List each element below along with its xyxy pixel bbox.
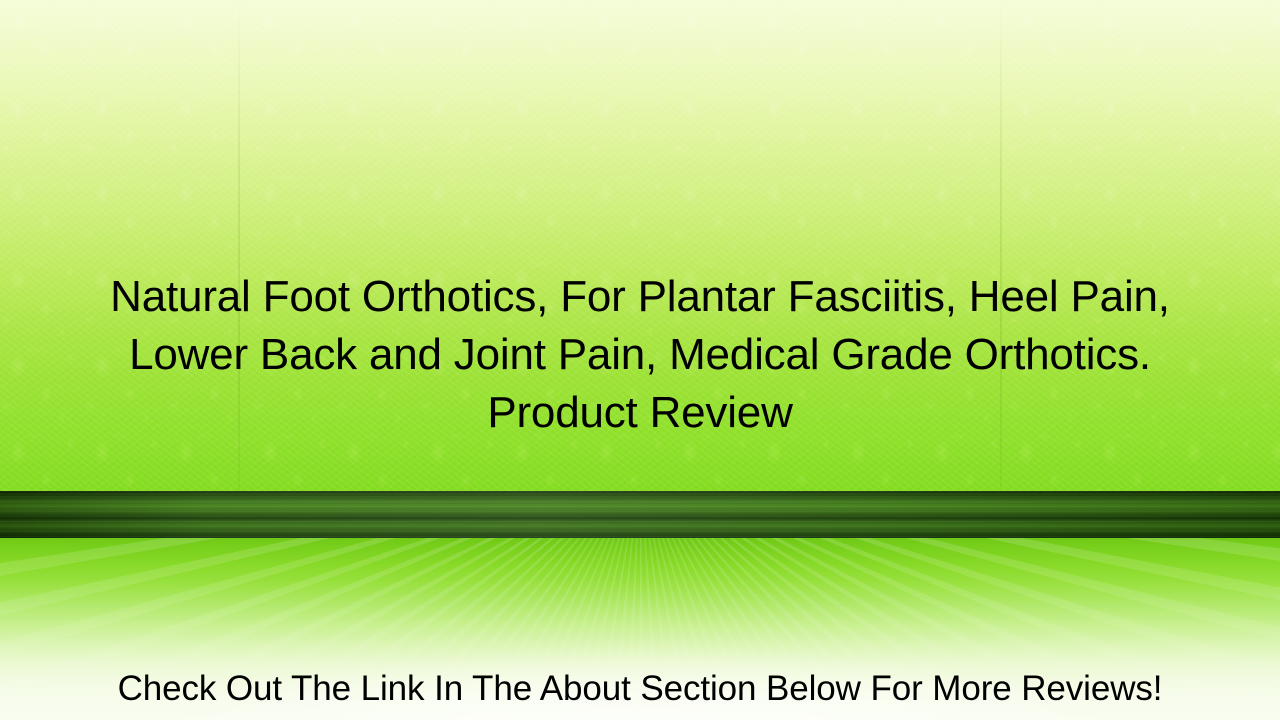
cta-caption: Check Out The Link In The About Section …	[0, 668, 1280, 710]
title-line-3: Product Review	[0, 384, 1280, 442]
title-line-2: Lower Back and Joint Pain, Medical Grade…	[0, 326, 1280, 384]
product-review-slide: Natural Foot Orthotics, For Plantar Fasc…	[0, 0, 1280, 720]
page-title: Natural Foot Orthotics, For Plantar Fasc…	[0, 268, 1280, 442]
shelf-sheen	[0, 491, 1280, 538]
title-line-1: Natural Foot Orthotics, For Plantar Fasc…	[0, 268, 1280, 326]
shelf-divider	[0, 491, 1280, 538]
